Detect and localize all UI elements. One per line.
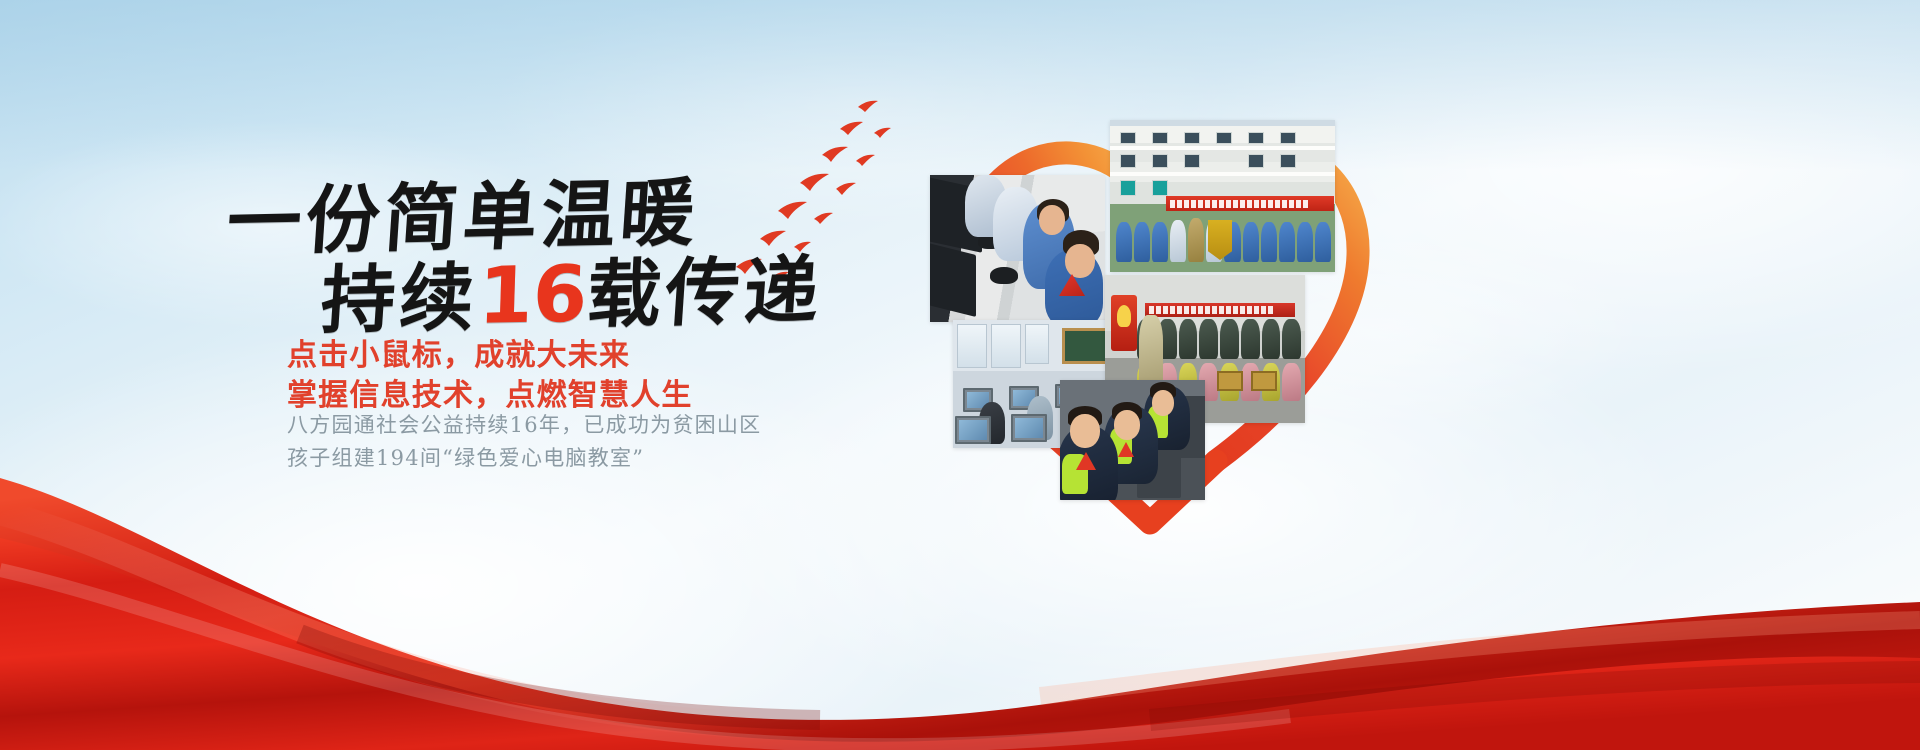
photo-school-ceremony	[1110, 120, 1335, 272]
years-number: 16	[477, 250, 589, 342]
subtitle-line-1: 点击小鼠标，成就大未来	[287, 330, 630, 374]
subtitle-line-2: 掌握信息技术，点燃智慧人生	[287, 370, 693, 414]
charity-banner: 一份简单温暖 持续16载传递 点击小鼠标，成就大未来 掌握信息技术，点燃智慧人生…	[0, 0, 1920, 750]
headline-suffix: 载传递	[584, 248, 825, 339]
red-satin-ribbon	[0, 420, 1920, 750]
photo-students-mice	[930, 175, 1105, 322]
